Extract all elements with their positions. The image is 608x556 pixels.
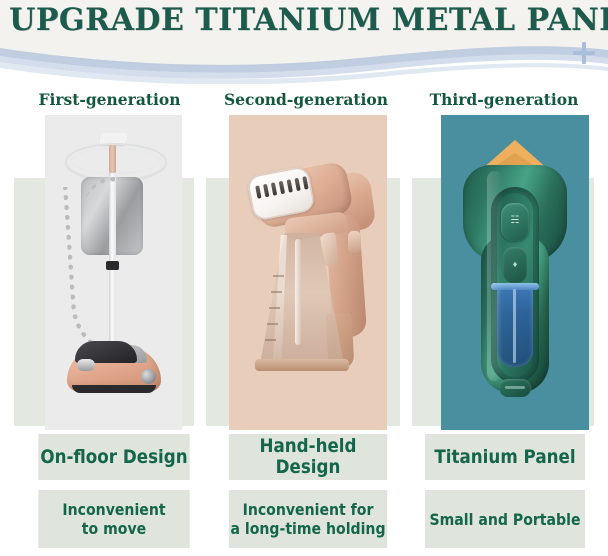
drawback-label-text: Small and Portable: [429, 510, 580, 529]
design-label-text: On-floor Design: [40, 447, 187, 468]
product-image-green-titanium-steamer: ☵ ♦: [441, 115, 589, 430]
design-label-first-generation: On-floor Design: [38, 434, 189, 480]
design-label-second-generation: Hand-held Design: [229, 434, 387, 480]
design-label-third-generation: Titanium Panel: [425, 434, 585, 480]
page-title: UPGRADE TITANIUM METAL PANEL: [9, 2, 599, 38]
plus-icon: [573, 42, 595, 64]
product-image-stand-steamer: [45, 115, 182, 430]
wave-decoration: [0, 38, 608, 84]
product-image-handheld-rosegold-steamer: [229, 115, 387, 430]
drawback-label-second-generation: Inconvenient for a long-time holding: [229, 490, 387, 548]
infographic-root: UPGRADE TITANIUM METAL PANEL First-gener…: [0, 0, 608, 556]
design-label-text: Titanium Panel: [434, 447, 575, 468]
design-label-text: Hand-held Design: [229, 436, 387, 478]
product-card-second-generation: [229, 115, 387, 430]
product-card-third-generation: ☵ ♦: [441, 115, 589, 430]
band-gap-1: [194, 178, 206, 426]
product-card-first-generation: [45, 115, 182, 430]
band-gap-2: [400, 178, 412, 426]
column-heading-first-generation: First-generation: [22, 88, 197, 112]
drawback-label-text: Inconvenient for a long-time holding: [230, 500, 385, 538]
drawback-label-first-generation: Inconvenient to move: [38, 490, 189, 548]
column-heading-second-generation: Second-generation: [213, 88, 399, 112]
column-heading-third-generation: Third-generation: [411, 88, 597, 112]
drawback-label-text: Inconvenient to move: [62, 500, 165, 538]
header-banner: UPGRADE TITANIUM METAL PANEL: [0, 0, 608, 84]
drawback-label-third-generation: Small and Portable: [425, 490, 585, 548]
